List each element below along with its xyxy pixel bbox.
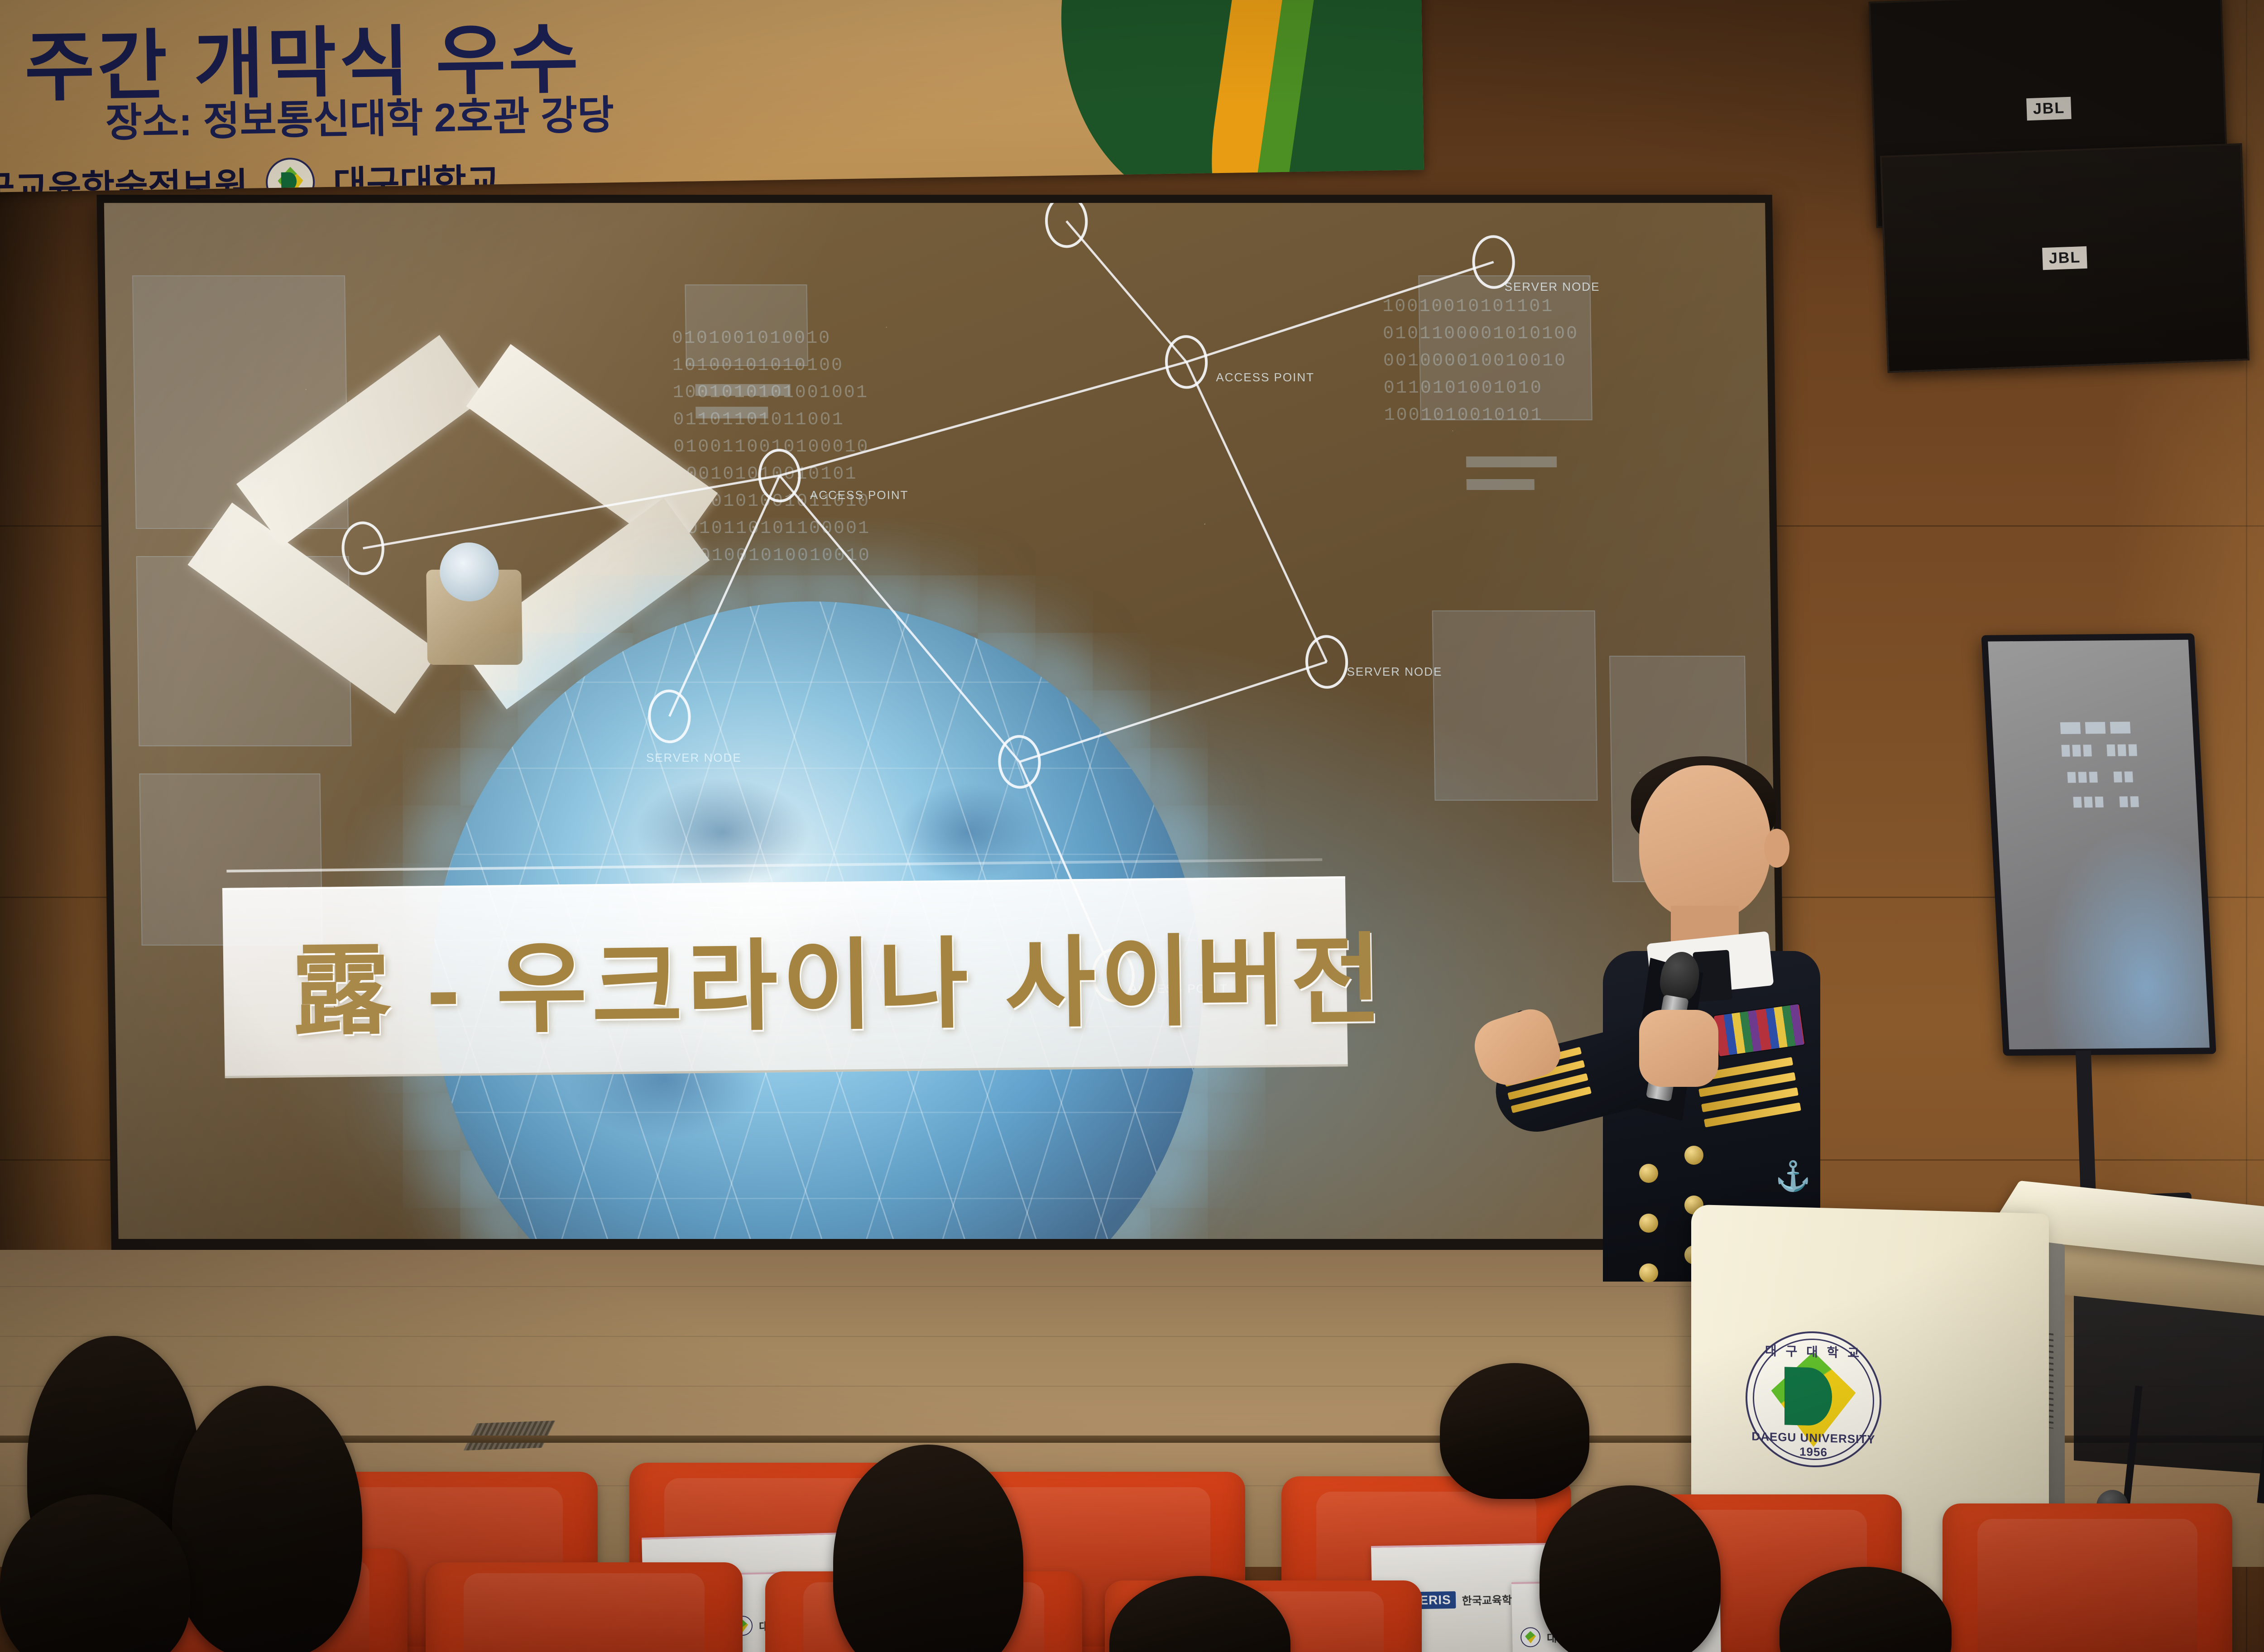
- banner-place: 장소: 정보통신대학 2호관 강당: [105, 83, 614, 149]
- network-node-label: SERVER NODE: [1504, 280, 1600, 294]
- podium-logo-kr: 대 구 대 학 교: [1747, 1340, 1880, 1362]
- podium-daegu-university-logo: 대 구 대 학 교 DAEGU UNIVERSITY 1956: [1746, 1330, 1881, 1469]
- side-display-monitor: [1981, 634, 2216, 1056]
- network-node-label: SERVER NODE: [646, 751, 742, 765]
- presenter-ear: [1764, 829, 1789, 868]
- uniform-button: [1639, 1214, 1658, 1233]
- presenter-right-hand: [1639, 1010, 1718, 1087]
- network-node-label: SERVER NODE: [1347, 665, 1442, 679]
- ceiling-speaker-bottom: JBL: [1880, 143, 2250, 373]
- podium-logo-en: DAEGU UNIVERSITY 1956: [1747, 1429, 1880, 1461]
- uniform-button: [1684, 1146, 1703, 1165]
- naval-anchor-insignia-icon: ⚓: [1775, 1162, 1802, 1193]
- slide-title-band: 露 - 우크라이나 사이버전: [222, 876, 1348, 1078]
- audience-head: [1440, 1363, 1589, 1499]
- uniform-button: [1639, 1164, 1658, 1183]
- jbl-logo: JBL: [2042, 246, 2087, 270]
- banner-org-keris: 한국교육학술정보원: [0, 157, 248, 192]
- seat: [426, 1562, 743, 1652]
- seat: [1943, 1503, 2232, 1652]
- daegu-university-mini-logo-icon: [1521, 1627, 1541, 1647]
- daegu-university-seal-icon: [266, 157, 316, 192]
- lecture-hall-photo: 0101001010010 10100101010100 10010101010…: [0, 0, 2264, 1652]
- slide-title: 露 - 우크라이나 사이버전: [291, 899, 1387, 1054]
- uniform-button: [1639, 1263, 1658, 1282]
- presenter-head: [1639, 765, 1770, 919]
- jbl-logo: JBL: [2026, 97, 2072, 120]
- network-node-label: ACCESS POINT: [1216, 370, 1314, 384]
- event-banner: 술 주간 개막식 우수 00 장소: 정보통신대학 2호관 강당 한국교육학술정…: [0, 0, 1424, 192]
- presenter: ⚓: [1490, 738, 1834, 1282]
- monitor-screen: [1988, 640, 2210, 1050]
- audience-head: [172, 1386, 362, 1652]
- network-node-label: ACCESS POINT: [810, 488, 909, 502]
